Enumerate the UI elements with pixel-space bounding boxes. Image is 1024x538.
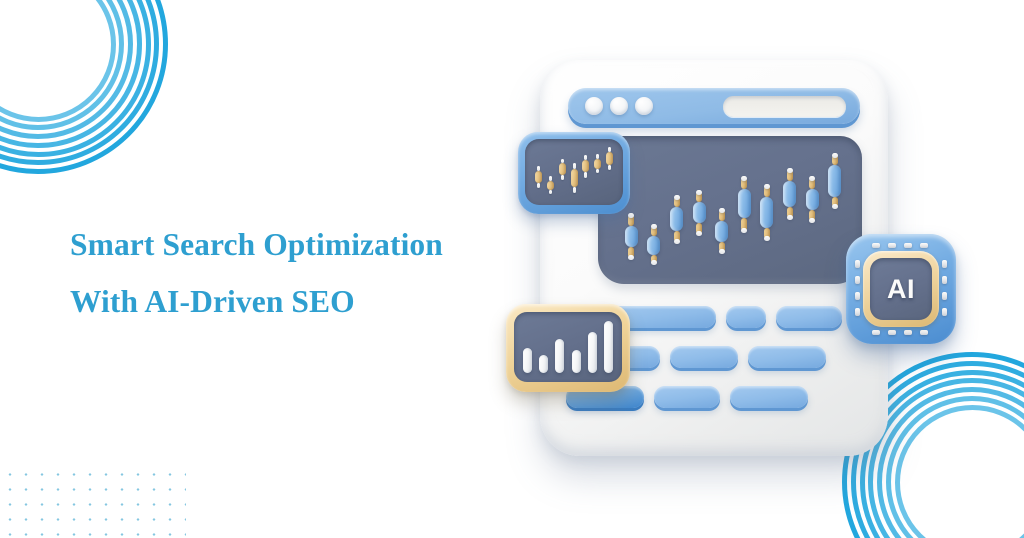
- seo-dashboard-illustration: AI: [498, 44, 998, 484]
- candlestick-tip: [832, 204, 838, 209]
- decor-ring: [0, 0, 168, 174]
- ai-chip-label: AI: [887, 274, 915, 305]
- chip-pin-bottom: [920, 330, 928, 335]
- decor-rings-top-left: [0, 0, 168, 174]
- candlestick: [828, 155, 841, 208]
- chip-pin-left: [855, 308, 860, 316]
- content-pill[interactable]: [654, 386, 720, 408]
- mini-candlestick-body: [571, 169, 578, 187]
- candlestick: [738, 178, 751, 231]
- browser-window-device: [540, 60, 888, 456]
- candlestick-body: [715, 221, 728, 242]
- candlestick-tip: [674, 239, 680, 244]
- chip-pin-right: [942, 260, 947, 268]
- chip-pin-right: [942, 276, 947, 284]
- main-candlestick-chart: [598, 136, 862, 284]
- decor-ring: [0, 0, 151, 157]
- candlestick: [625, 215, 638, 257]
- chip-frame: AI: [863, 251, 939, 327]
- candlestick-tip: [832, 153, 838, 158]
- candlestick-tip: [696, 231, 702, 236]
- window-dot-icon-3: [635, 97, 653, 115]
- mini-candlestick-chart: [525, 139, 623, 205]
- mini-candlestick-body: [559, 163, 566, 175]
- candlestick: [806, 178, 819, 220]
- mini-wick-upper: [573, 163, 576, 169]
- chip-pin-top: [904, 243, 912, 248]
- chip-core: AI: [870, 258, 932, 320]
- mini-candlestick: [582, 155, 589, 177]
- candlestick-body: [760, 197, 773, 229]
- candlestick-body: [670, 207, 683, 231]
- ai-chip-badge: AI: [846, 234, 956, 344]
- decor-ring: [0, 0, 133, 139]
- mini-candlestick-body: [606, 152, 613, 165]
- page-title-line-1: Smart Search Optimization: [70, 216, 540, 273]
- mini-candlestick: [594, 154, 601, 173]
- candlestick: [783, 170, 796, 218]
- candlestick: [760, 186, 773, 239]
- chip-pin-right: [942, 308, 947, 316]
- candlestick-tip: [696, 190, 702, 195]
- chip-pin-left: [855, 276, 860, 284]
- candlestick-tip: [674, 195, 680, 200]
- candlestick: [693, 192, 706, 234]
- bar: [588, 332, 597, 373]
- candlestick-tip: [741, 228, 747, 233]
- candlestick-body: [693, 202, 706, 223]
- mini-candlestick: [571, 163, 578, 193]
- page-title-line-2: With AI-Driven SEO: [70, 273, 540, 330]
- candlestick-tip: [651, 224, 657, 229]
- candlestick: [647, 226, 660, 263]
- candlestick-tip: [764, 184, 770, 189]
- candlestick: [715, 210, 728, 252]
- candlestick-body: [806, 189, 819, 210]
- chip-pin-right: [942, 292, 947, 300]
- content-pill[interactable]: [776, 306, 842, 328]
- window-dot-icon-1: [585, 97, 603, 115]
- mini-wick-lower: [573, 187, 576, 194]
- mini-wick-lower: [584, 172, 587, 178]
- content-pill[interactable]: [730, 386, 808, 408]
- mini-wick-lower: [596, 169, 599, 173]
- chip-pin-top: [920, 243, 928, 248]
- mini-candlestick-badge: [518, 132, 630, 214]
- bar: [539, 355, 548, 373]
- page-title: Smart Search Optimization With AI-Driven…: [70, 216, 540, 330]
- candlestick-body: [783, 181, 796, 207]
- decor-ring: [0, 0, 159, 165]
- candlestick-body: [738, 189, 751, 218]
- chip-pin-top: [872, 243, 880, 248]
- candlestick-body: [828, 165, 841, 197]
- mini-wick-lower: [537, 183, 540, 187]
- bar: [523, 348, 532, 373]
- content-pill[interactable]: [748, 346, 826, 368]
- mini-candlestick-body: [547, 181, 554, 190]
- candlestick: [670, 197, 683, 242]
- chip-pin-top: [888, 243, 896, 248]
- bar-chart-badge-chart: [514, 312, 622, 382]
- mini-wick-upper: [584, 155, 587, 159]
- mini-wick-lower: [608, 165, 611, 169]
- candlestick-body: [625, 226, 638, 247]
- chip-pin-bottom: [872, 330, 880, 335]
- decor-ring: [0, 0, 124, 130]
- mini-candlestick: [559, 159, 566, 180]
- candlestick-tip: [628, 255, 634, 260]
- bar: [572, 350, 581, 373]
- content-pill[interactable]: [670, 346, 738, 368]
- chip-pin-left: [855, 292, 860, 300]
- candlestick-body: [647, 236, 660, 254]
- mini-candlestick: [535, 166, 542, 187]
- candlestick-tip: [787, 168, 793, 173]
- chip-pin-bottom: [888, 330, 896, 335]
- bar: [604, 321, 613, 373]
- bar: [555, 339, 564, 373]
- decor-dot-grid: [0, 464, 186, 538]
- chip-pin-left: [855, 260, 860, 268]
- candlestick-tip: [719, 249, 725, 254]
- decor-ring: [0, 0, 142, 148]
- candlestick-tip: [787, 215, 793, 220]
- chip-pin-bottom: [904, 330, 912, 335]
- address-bar[interactable]: [723, 96, 846, 117]
- mini-wick-upper: [596, 154, 599, 158]
- mini-candlestick-body: [535, 171, 542, 183]
- candlestick-tip: [719, 208, 725, 213]
- mini-candlestick: [606, 147, 613, 169]
- window-dot-icon-2: [610, 97, 628, 115]
- mini-candlestick-body: [594, 159, 601, 169]
- content-pill[interactable]: [726, 306, 766, 328]
- mini-wick-lower: [561, 175, 564, 179]
- browser-titlebar: [568, 88, 860, 124]
- mini-candlestick-body: [582, 160, 589, 172]
- candlestick-tip: [809, 218, 815, 223]
- mini-candlestick: [547, 176, 554, 194]
- bar-chart-badge: [506, 304, 630, 392]
- decor-ring: [0, 0, 116, 122]
- candlestick-tip: [764, 236, 770, 241]
- candlestick-tip: [651, 260, 657, 265]
- mini-wick-lower: [549, 190, 552, 194]
